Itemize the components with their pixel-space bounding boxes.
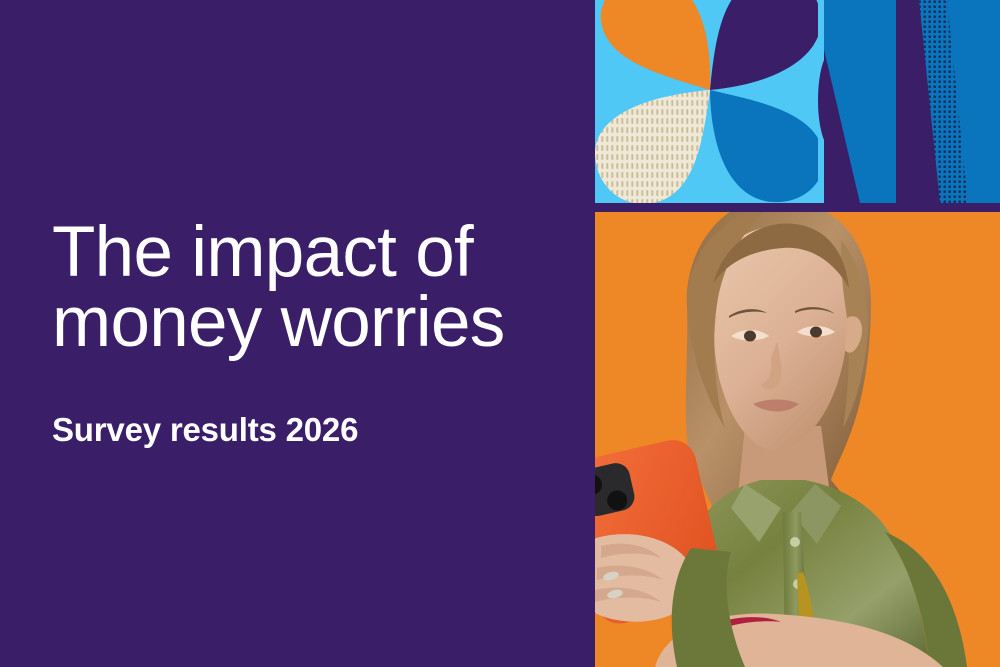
subtitle: Survey results 2026 — [52, 357, 572, 448]
title-block: The impact of money worries Survey resul… — [52, 218, 572, 448]
iris-right — [810, 327, 822, 338]
iris-left — [744, 331, 756, 342]
petal-pattern-panel — [595, 0, 818, 203]
four-petal-pinwheel-icon — [595, 0, 818, 203]
shirt-button — [790, 537, 800, 547]
w-monogram-panel — [818, 0, 1000, 203]
presentation-slide: The impact of money worries Survey resul… — [0, 0, 1000, 667]
portrait-woman-with-phone-image — [595, 212, 1000, 667]
page-title: The impact of money worries — [52, 218, 572, 357]
portrait-photo-panel — [595, 212, 1000, 667]
w-monogram-icon — [818, 0, 1000, 203]
